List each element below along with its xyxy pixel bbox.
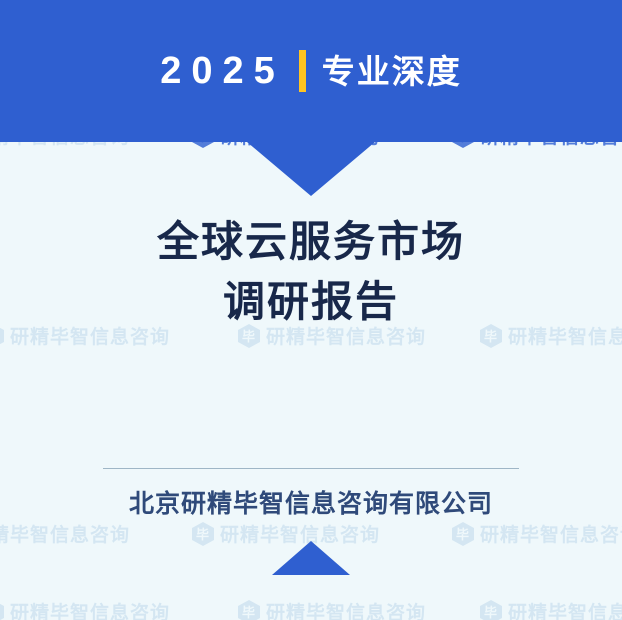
watermark-item: 毕研精毕智信息咨询 <box>0 520 130 547</box>
banner-subtitle: 专业深度 <box>322 55 462 88</box>
report-cover: 毕研精毕智信息咨询毕研精毕智信息咨询毕研精毕智信息咨询毕研精毕智信息咨询毕研精毕… <box>0 0 622 620</box>
watermark-text: 研精毕智信息咨询 <box>480 520 622 547</box>
watermark-logo-icon: 毕 <box>452 522 474 546</box>
divider <box>103 468 519 469</box>
watermark-text: 研精毕智信息咨询 <box>0 520 130 547</box>
company-name: 北京研精毕智信息咨询有限公司 <box>0 484 622 520</box>
watermark-text: 研精毕智信息咨询 <box>508 598 622 620</box>
watermark-logo-icon: 毕 <box>480 600 502 620</box>
accent-bar-icon <box>299 50 306 92</box>
triangle-decoration-icon <box>272 541 350 575</box>
watermark-item: 毕研精毕智信息咨询 <box>238 598 426 620</box>
header-banner: 2025 专业深度 <box>0 0 622 196</box>
watermark-logo-icon: 毕 <box>0 600 4 620</box>
page-title-line-2: 调研报告 <box>0 272 622 332</box>
svg-text:毕: 毕 <box>242 605 256 620</box>
header-banner-content: 2025 专业深度 <box>0 0 622 142</box>
svg-text:毕: 毕 <box>484 605 498 620</box>
year-label: 2025 <box>160 52 299 90</box>
watermark-text: 研精毕智信息咨询 <box>10 598 170 620</box>
page-title-line-1: 全球云服务市场 <box>0 212 622 272</box>
watermark-item: 毕研精毕智信息咨询 <box>480 598 622 620</box>
svg-text:毕: 毕 <box>456 527 470 542</box>
svg-text:毕: 毕 <box>196 527 210 542</box>
watermark-item: 毕研精毕智信息咨询 <box>0 598 170 620</box>
watermark-item: 毕研精毕智信息咨询 <box>452 520 622 547</box>
page-title: 全球云服务市场 调研报告 <box>0 212 622 331</box>
watermark-logo-icon: 毕 <box>192 522 214 546</box>
watermark-text: 研精毕智信息咨询 <box>266 598 426 620</box>
watermark-logo-icon: 毕 <box>238 600 260 620</box>
